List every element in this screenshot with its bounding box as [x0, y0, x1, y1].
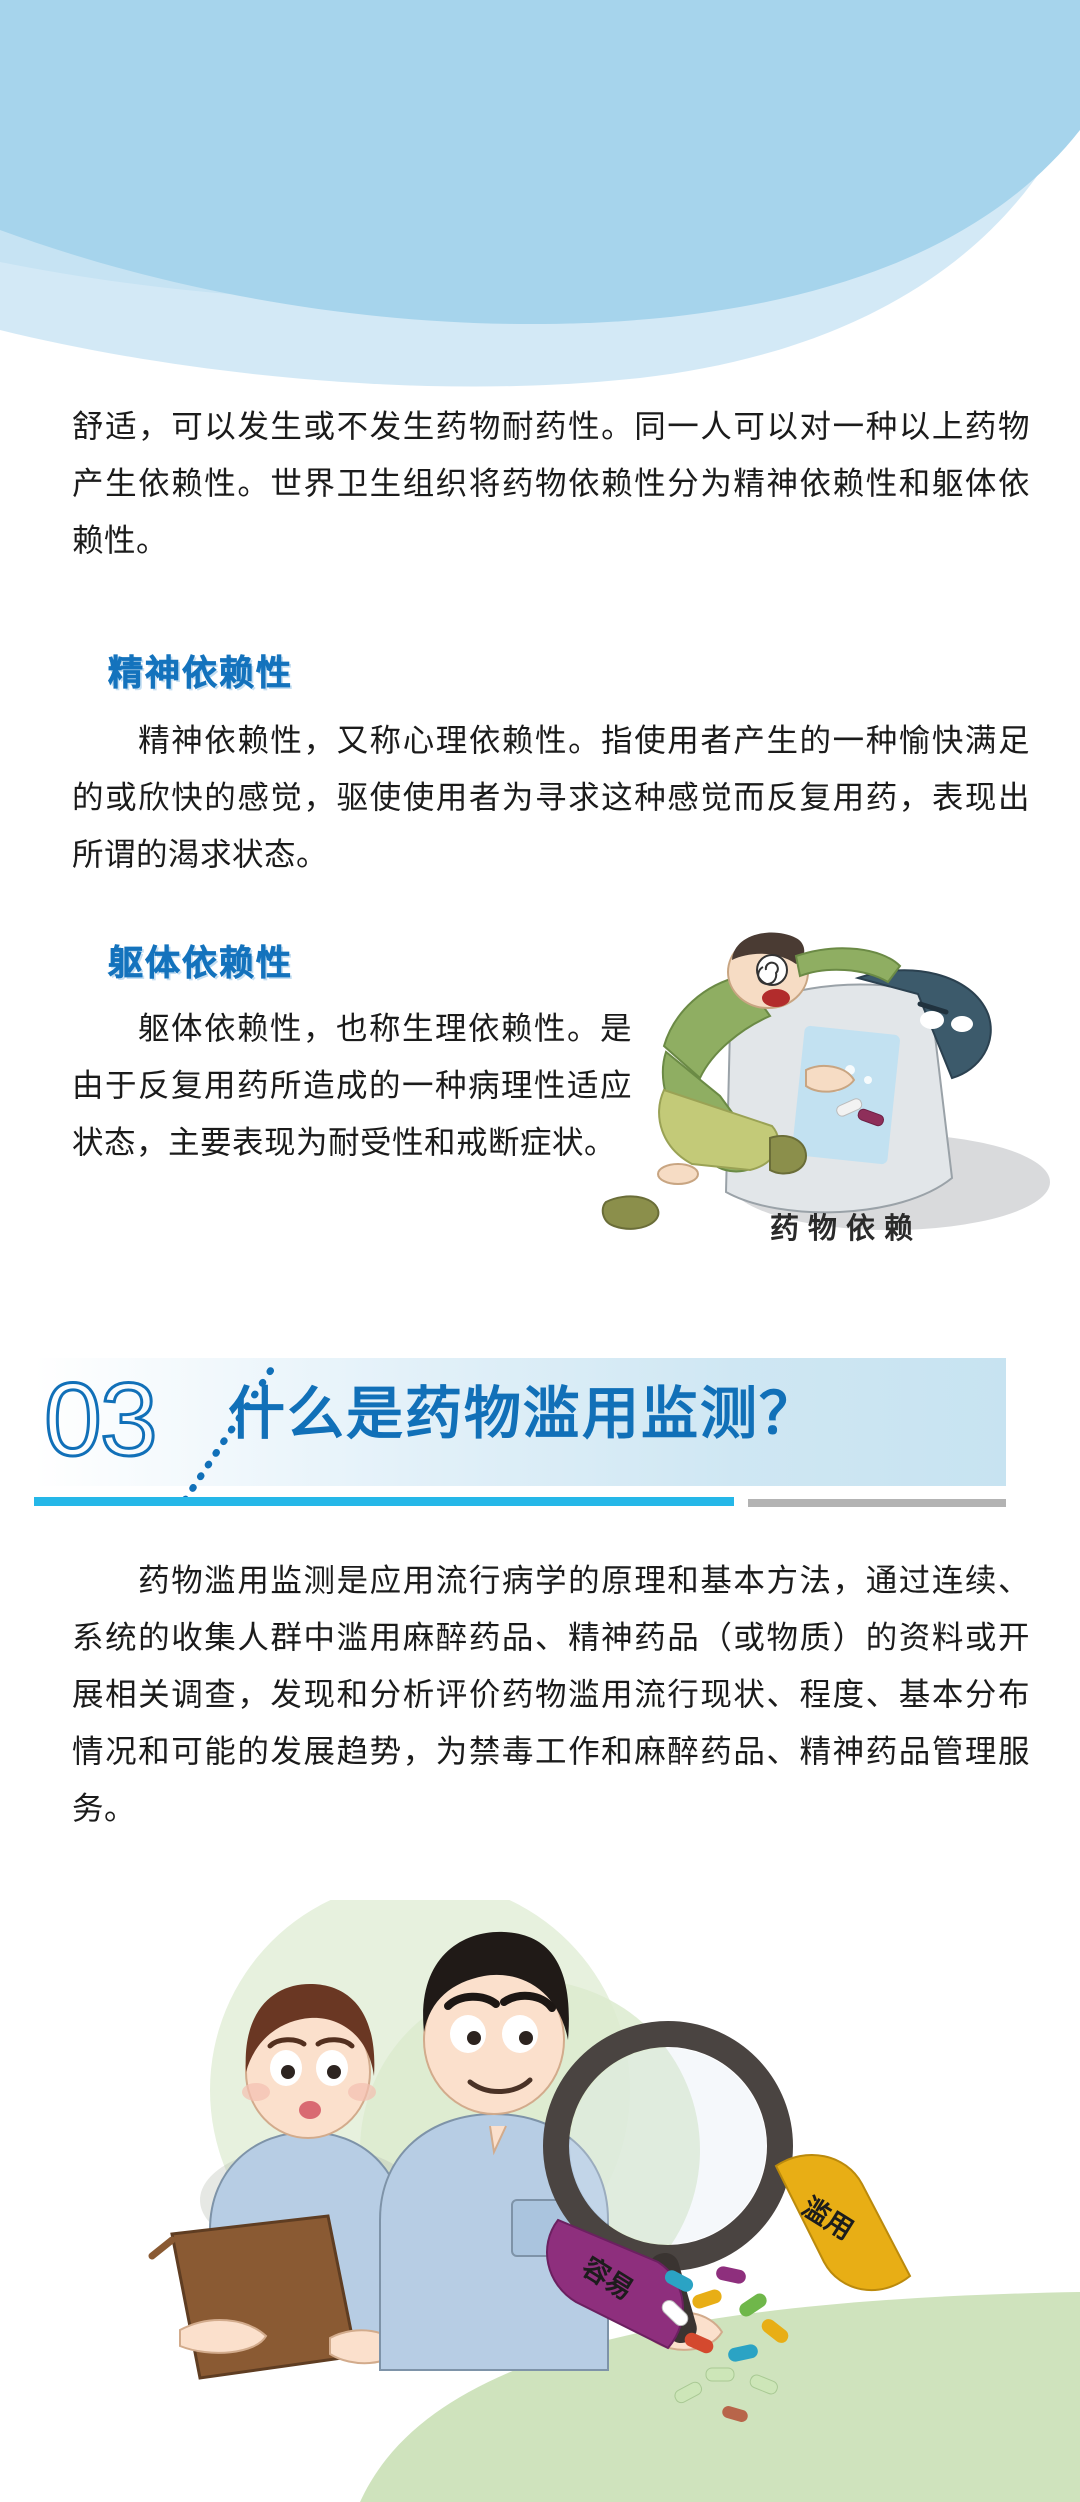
physical-dependence-paragraph: 躯体依赖性，也称生理依赖性。是由于反复用药所造成的一种病理性适应状态，主要表现为…: [72, 1000, 632, 1171]
person-dizzy-eye: [757, 955, 787, 985]
monitoring-paragraph: 药物滥用监测是应用流行病学的原理和基本方法，通过连续、系统的收集人群中滥用麻醉药…: [72, 1552, 1030, 1837]
divider-cyan: [34, 1497, 734, 1506]
heading-mental-dependence: 精神依赖性: [108, 645, 293, 696]
capsule-eye-right: [951, 1016, 973, 1032]
intro-paragraph: 舒适，可以发生或不发生药物耐药性。同一人可以对一种以上药物产生依赖性。世界卫生组…: [72, 398, 1030, 569]
mental-dependence-paragraph: 精神依赖性，又称心理依赖性。指使用者产生的一种愉快满足的或欣快的感觉，驱使使用者…: [72, 712, 1030, 883]
capsule-label-panel: [791, 1025, 900, 1164]
person-mouth: [762, 989, 790, 1007]
magnifier-lens: [570, 2048, 766, 2244]
slipper-worn: [770, 1136, 806, 1174]
female-mouth: [299, 2101, 321, 2119]
section-title-03: 什么是药物滥用监测？: [228, 1378, 818, 1450]
divider-gray: [748, 1499, 1006, 1507]
capsule-caption: 药物依赖: [770, 1212, 922, 1245]
infographic-page: 舒适，可以发生或不发生药物耐药性。同一人可以对一种以上药物产生依赖性。世界卫生组…: [0, 0, 1080, 2502]
capsule-eye-left: [920, 1011, 944, 1029]
male-eye-right: [502, 2015, 538, 2053]
section-number-03: 03: [44, 1368, 156, 1472]
person-arm-upper: [796, 948, 900, 982]
clipboard: [152, 2216, 356, 2378]
person-foot: [658, 1164, 698, 1184]
heading-physical-dependence: 躯体依赖性: [108, 935, 293, 986]
illustration-drug-dependence: 药物依赖: [600, 920, 1050, 1280]
slipper-loose: [603, 1196, 659, 1228]
male-eye-left: [450, 2015, 486, 2053]
pen: [152, 2240, 172, 2256]
header-wave-decoration: [0, 0, 1080, 420]
illustration-monitoring: 容易 滥用: [60, 1900, 1080, 2502]
